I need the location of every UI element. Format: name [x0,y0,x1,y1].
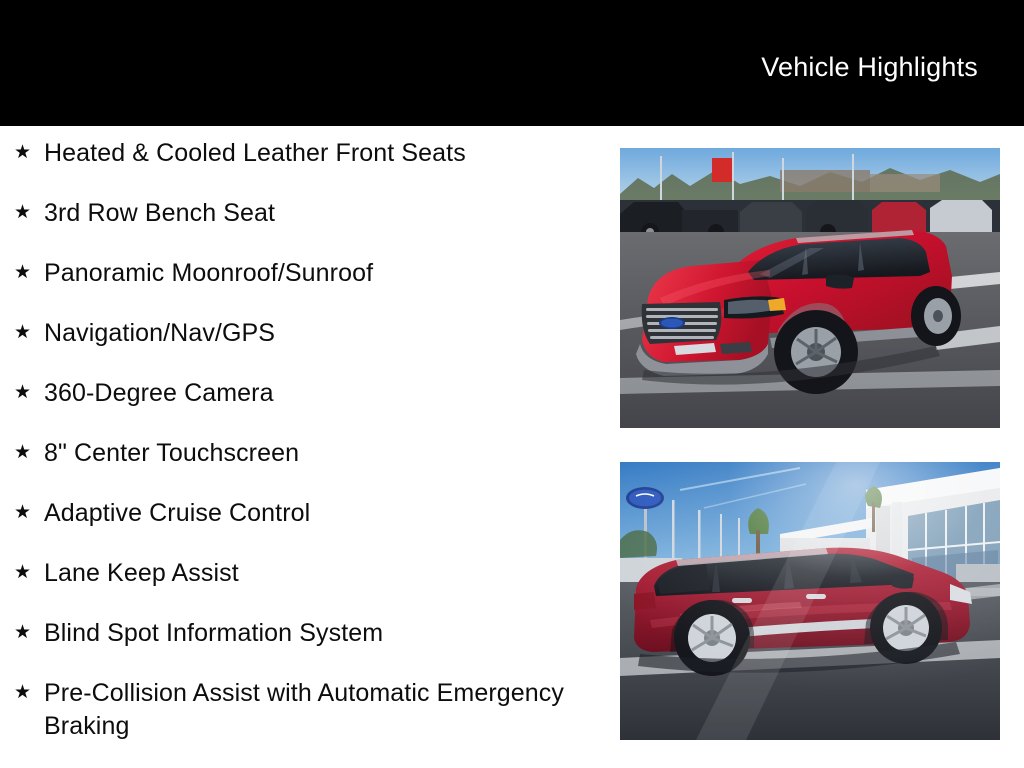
page-title: Vehicle Highlights [761,52,978,83]
list-item: ★ Heated & Cooled Leather Front Seats [10,136,610,196]
list-item: ★ Pre-Collision Assist with Automatic Em… [10,676,610,752]
vehicle-highlights-list: ★ Heated & Cooled Leather Front Seats ★ … [10,136,610,752]
list-item: ★ Adaptive Cruise Control [10,496,610,556]
list-item: ★ Navigation/Nav/GPS [10,316,610,376]
star-icon: ★ [10,616,44,650]
vehicle-photo-front-three-quarter [620,148,1000,428]
star-icon: ★ [10,556,44,590]
list-item-label: Lane Keep Assist [44,556,610,590]
list-item: ★ 8" Center Touchscreen [10,436,610,496]
list-item: ★ Blind Spot Information System [10,616,610,676]
list-item: ★ Lane Keep Assist [10,556,610,616]
vehicle-photo-front-illustration [620,148,1000,428]
star-icon: ★ [10,256,44,290]
star-icon: ★ [10,316,44,350]
header-bar: Vehicle Highlights [0,0,1024,126]
star-icon: ★ [10,676,44,710]
list-item: ★ Panoramic Moonroof/Sunroof [10,256,610,316]
list-item-label: Adaptive Cruise Control [44,496,610,530]
star-icon: ★ [10,436,44,470]
star-icon: ★ [10,496,44,530]
star-icon: ★ [10,376,44,410]
list-item-label: Navigation/Nav/GPS [44,316,610,350]
list-item-label: 3rd Row Bench Seat [44,196,610,230]
vehicle-photo-side-profile [620,462,1000,740]
list-item-label: Heated & Cooled Leather Front Seats [44,136,610,170]
list-item-label: 8" Center Touchscreen [44,436,610,470]
star-icon: ★ [10,196,44,230]
list-item-label: Panoramic Moonroof/Sunroof [44,256,610,290]
list-item-label: Blind Spot Information System [44,616,610,650]
vehicle-photo-side-illustration [620,462,1000,740]
star-icon: ★ [10,136,44,170]
list-item: ★ 3rd Row Bench Seat [10,196,610,256]
list-item-label: 360-Degree Camera [44,376,610,410]
list-item-label: Pre-Collision Assist with Automatic Emer… [44,676,610,743]
list-item: ★ 360-Degree Camera [10,376,610,436]
